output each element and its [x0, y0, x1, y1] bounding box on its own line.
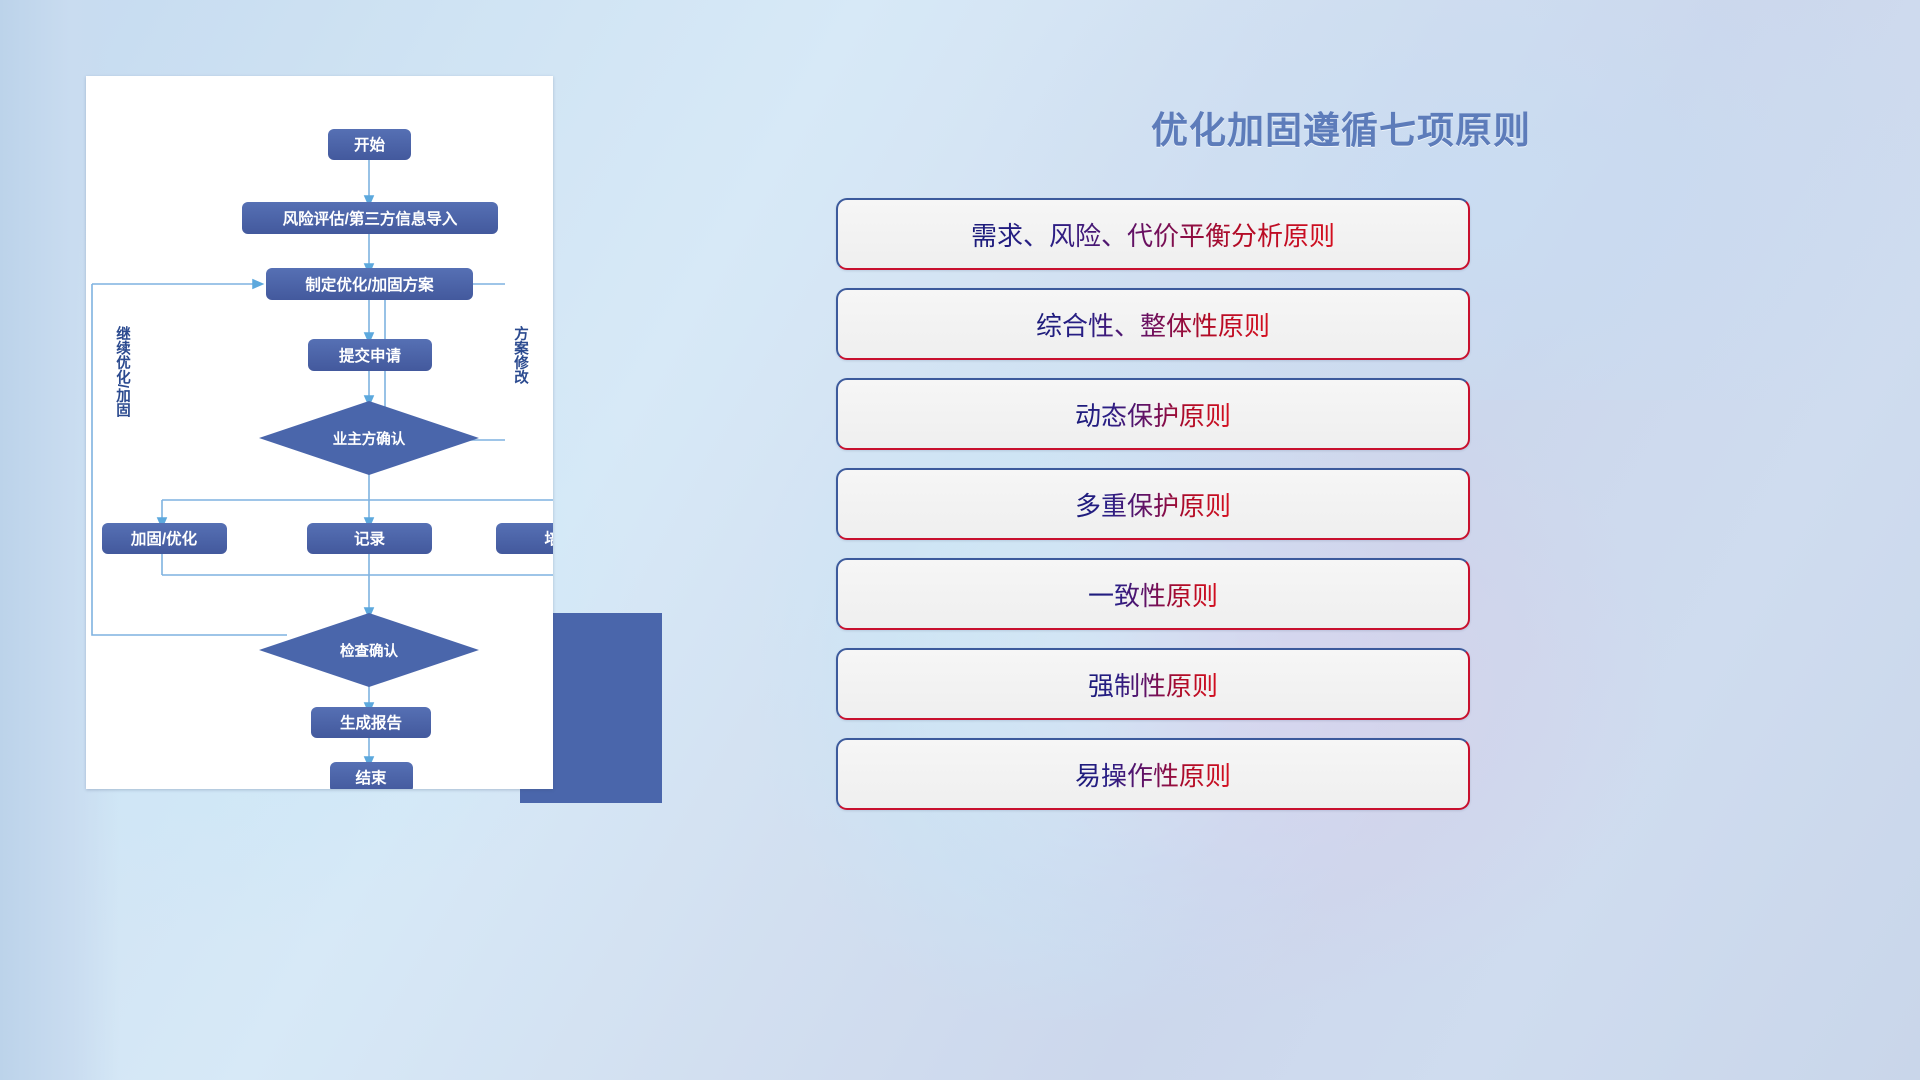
principle-card-4[interactable]: 多重保护原则 [836, 468, 1470, 540]
principle-card-1-label: 需求、风险、代价平衡分析原则 [971, 216, 1335, 253]
flow-node-check-confirm[interactable]: 检查确认 [259, 613, 479, 687]
principle-card-6[interactable]: 强制性原则 [836, 648, 1470, 720]
flowchart-diagram: 开始 风险评估/第三方信息导入 制定优化/加固方案 提交申请 业主方确认 加固/… [86, 76, 553, 789]
flow-node-record[interactable]: 记录 [307, 523, 432, 554]
flow-node-reinforce-optimize-label: 加固/优化 [130, 529, 198, 548]
flow-node-generate-report-label: 生成报告 [340, 713, 402, 732]
principle-card-1[interactable]: 需求、风险、代价平衡分析原则 [836, 198, 1470, 270]
principles-panel: 优化加固遵循七项原则 需求、风险、代价平衡分析原则 综合性、整体性原则 动态保护… [836, 76, 1846, 1006]
flow-edge-label-continue-optimize: 继续优化/加固 [114, 325, 131, 419]
flow-node-submit-application-label: 提交申请 [339, 346, 402, 365]
principle-card-4-label: 多重保护原则 [1075, 486, 1231, 523]
flow-node-end[interactable]: 结束 [330, 762, 413, 789]
flow-node-training[interactable]: 培训 [496, 523, 553, 554]
principle-card-7[interactable]: 易操作性原则 [836, 738, 1470, 810]
principle-card-5[interactable]: 一致性原则 [836, 558, 1470, 630]
flow-node-end-label: 结束 [354, 768, 387, 787]
flow-node-risk-assessment-label: 风险评估/第三方信息导入 [283, 209, 458, 228]
page-title: 优化加固遵循七项原则 [836, 100, 1846, 154]
principle-card-6-label: 强制性原则 [1088, 666, 1218, 703]
flow-node-record-label: 记录 [354, 530, 386, 548]
principle-card-2[interactable]: 综合性、整体性原则 [836, 288, 1470, 360]
principles-card-list: 需求、风险、代价平衡分析原则 综合性、整体性原则 动态保护原则 多重保护原则 一… [836, 198, 1846, 810]
flow-node-make-plan[interactable]: 制定优化/加固方案 [266, 268, 473, 300]
principle-card-2-label: 综合性、整体性原则 [1036, 306, 1270, 343]
flow-node-submit-application[interactable]: 提交申请 [308, 339, 432, 371]
flow-node-check-confirm-label: 检查确认 [340, 642, 398, 660]
flow-node-make-plan-label: 制定优化/加固方案 [305, 275, 434, 294]
flow-node-start-label: 开始 [354, 135, 386, 154]
principle-card-3[interactable]: 动态保护原则 [836, 378, 1470, 450]
flow-node-owner-confirm[interactable]: 业主方确认 [259, 401, 479, 475]
principle-card-5-label: 一致性原则 [1088, 576, 1218, 613]
flow-node-start[interactable]: 开始 [328, 129, 411, 160]
principle-card-7-label: 易操作性原则 [1075, 756, 1231, 793]
flow-node-training-label: 培训 [544, 529, 553, 548]
flow-edge-label-plan-revision: 方案修改 [512, 325, 529, 386]
flow-node-owner-confirm-label: 业主方确认 [333, 430, 406, 448]
principle-card-3-label: 动态保护原则 [1075, 396, 1231, 433]
flow-node-risk-assessment[interactable]: 风险评估/第三方信息导入 [242, 202, 498, 234]
flow-node-reinforce-optimize[interactable]: 加固/优化 [102, 523, 227, 554]
flow-node-generate-report[interactable]: 生成报告 [311, 707, 431, 738]
